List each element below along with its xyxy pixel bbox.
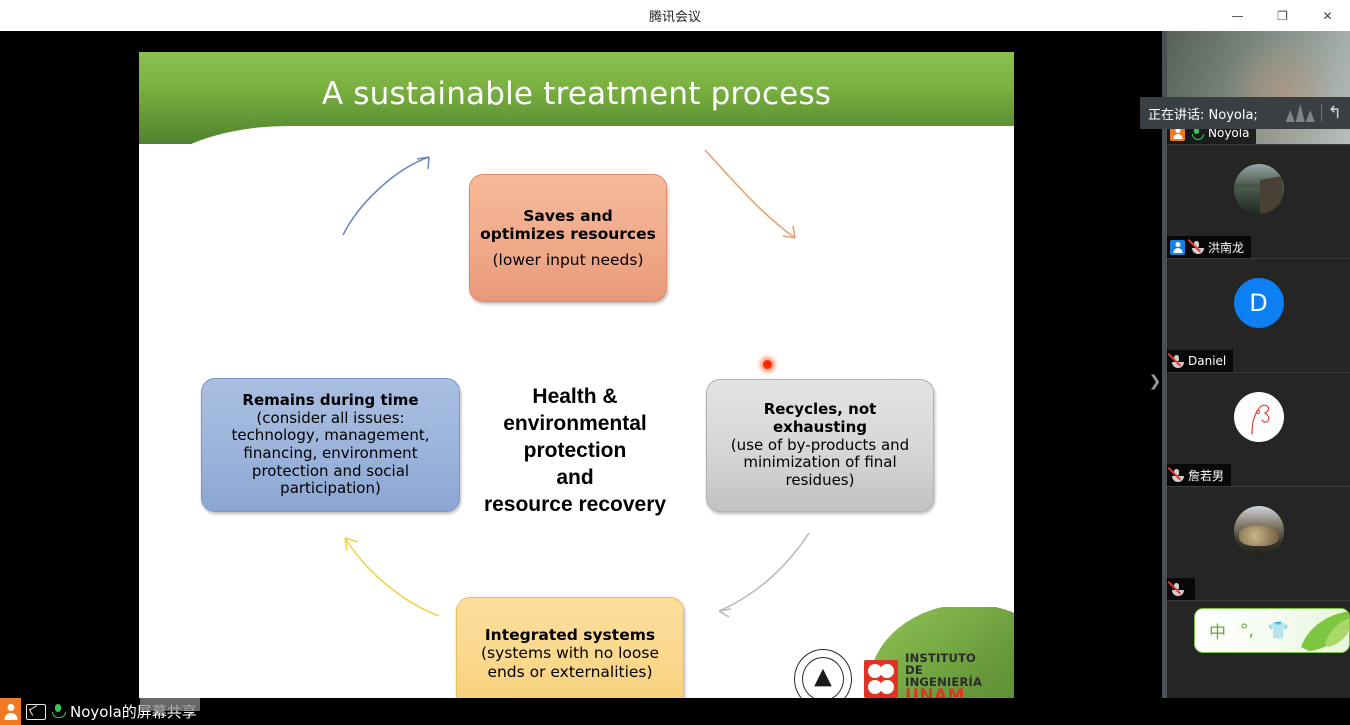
participant-name: Daniel — [1188, 354, 1226, 368]
microphone-muted-icon — [1170, 582, 1183, 597]
maximize-button[interactable]: ❐ — [1260, 0, 1305, 31]
back-arrow-icon[interactable]: ↰ — [1328, 103, 1342, 123]
speaking-label: 正在讲话: Noyola; — [1148, 104, 1280, 123]
participant-name-bar: 洪南龙 — [1167, 236, 1251, 258]
window-title: 腾讯会议 — [649, 6, 701, 25]
slide-center-text: Health & environmental protection and re… — [455, 384, 695, 518]
sound-wave-icon — [1286, 104, 1315, 122]
participant-tile[interactable]: 洪南龙 — [1167, 145, 1350, 259]
avatar — [1234, 392, 1284, 442]
tencent-meeting-window: 腾讯会议 — ❐ ✕ A sustainable treatment proce… — [0, 0, 1350, 725]
slide-title: A sustainable treatment process — [139, 76, 1014, 112]
microphone-muted-icon — [1170, 468, 1183, 483]
arrow-right-to-bottom — [709, 527, 819, 622]
title-bar: 腾讯会议 — ❐ ✕ — [0, 0, 1350, 31]
instituto-ingenieria-mark-icon — [864, 660, 898, 698]
laser-pointer-dot — [763, 360, 772, 369]
shared-screen-stage: A sustainable treatment process — [0, 31, 1350, 725]
participant-tile[interactable]: 詹若男 — [1167, 373, 1350, 487]
participant-name: 洪南龙 — [1208, 239, 1244, 256]
node-top-detail: (lower input needs) — [492, 251, 643, 269]
participant-name-bar: 詹若男 — [1167, 464, 1231, 486]
speaking-indicator-bar[interactable]: 正在讲话: Noyola; ↰ — [1140, 97, 1350, 129]
window-controls: — ❐ ✕ — [1215, 0, 1350, 31]
participant-name: 詹若男 — [1188, 467, 1224, 484]
node-saves-and-optimizes: Saves and optimizes resources (lower inp… — [469, 174, 667, 302]
node-right-heading: Recycles, not exhausting — [717, 401, 923, 436]
leaf-decoration-icon — [1291, 608, 1350, 653]
node-remains-during-time: Remains during time (consider all issues… — [201, 378, 460, 512]
participant-tile[interactable] — [1167, 487, 1350, 601]
participant-tile[interactable]: D Daniel — [1167, 259, 1350, 373]
ime-punctuation-button[interactable]: °, — [1240, 621, 1254, 641]
participant-name-bar — [1167, 578, 1195, 600]
arrow-bottom-to-left — [337, 530, 447, 625]
close-button[interactable]: ✕ — [1305, 0, 1350, 31]
divider — [1321, 104, 1322, 122]
eagle-glyph: ▲ — [814, 665, 832, 688]
node-left-heading: Remains during time — [242, 392, 418, 410]
ime-toolbar[interactable]: 中 °, 👕 — [1194, 608, 1350, 653]
node-recycles-not-exhausting: Recycles, not exhausting (use of by-prod… — [706, 379, 934, 512]
screen-share-taskbar: Noyola的屏幕共享 — [0, 698, 1350, 725]
node-left-detail: (consider all issues: technology, manage… — [212, 410, 449, 498]
avatar — [1234, 164, 1284, 214]
node-top-heading: Saves and optimizes resources — [480, 207, 656, 244]
node-bottom-heading: Integrated systems — [485, 626, 655, 644]
participant-name-bar: Daniel — [1167, 350, 1233, 372]
institute-line-2: DE INGENIERÍA — [905, 664, 994, 688]
avatar: D — [1234, 278, 1284, 328]
screen-share-icon[interactable] — [26, 704, 46, 720]
ime-skin-button[interactable]: 👕 — [1268, 621, 1289, 641]
user-icon — [0, 698, 21, 725]
node-bottom-detail: (systems with no loose ends or externali… — [467, 644, 673, 681]
node-right-detail: (use of by-products and minimization of … — [717, 437, 923, 490]
chevron-right-icon[interactable]: ❯ — [1148, 371, 1162, 391]
microphone-icon[interactable] — [51, 703, 65, 720]
ime-mode-button[interactable]: 中 — [1209, 618, 1226, 643]
arrow-left-to-top — [337, 147, 437, 242]
user-icon — [1170, 240, 1185, 255]
arrow-top-to-right — [699, 142, 809, 247]
line-art-face-icon — [1234, 392, 1284, 442]
node-integrated-systems: Integrated systems (systems with no loos… — [456, 597, 684, 707]
taskbar-highlight — [140, 698, 200, 711]
microphone-muted-icon — [1170, 354, 1183, 369]
minimize-button[interactable]: — — [1215, 0, 1260, 31]
microphone-muted-icon — [1190, 240, 1203, 255]
presentation-slide: A sustainable treatment process — [139, 52, 1014, 707]
avatar — [1234, 506, 1284, 556]
